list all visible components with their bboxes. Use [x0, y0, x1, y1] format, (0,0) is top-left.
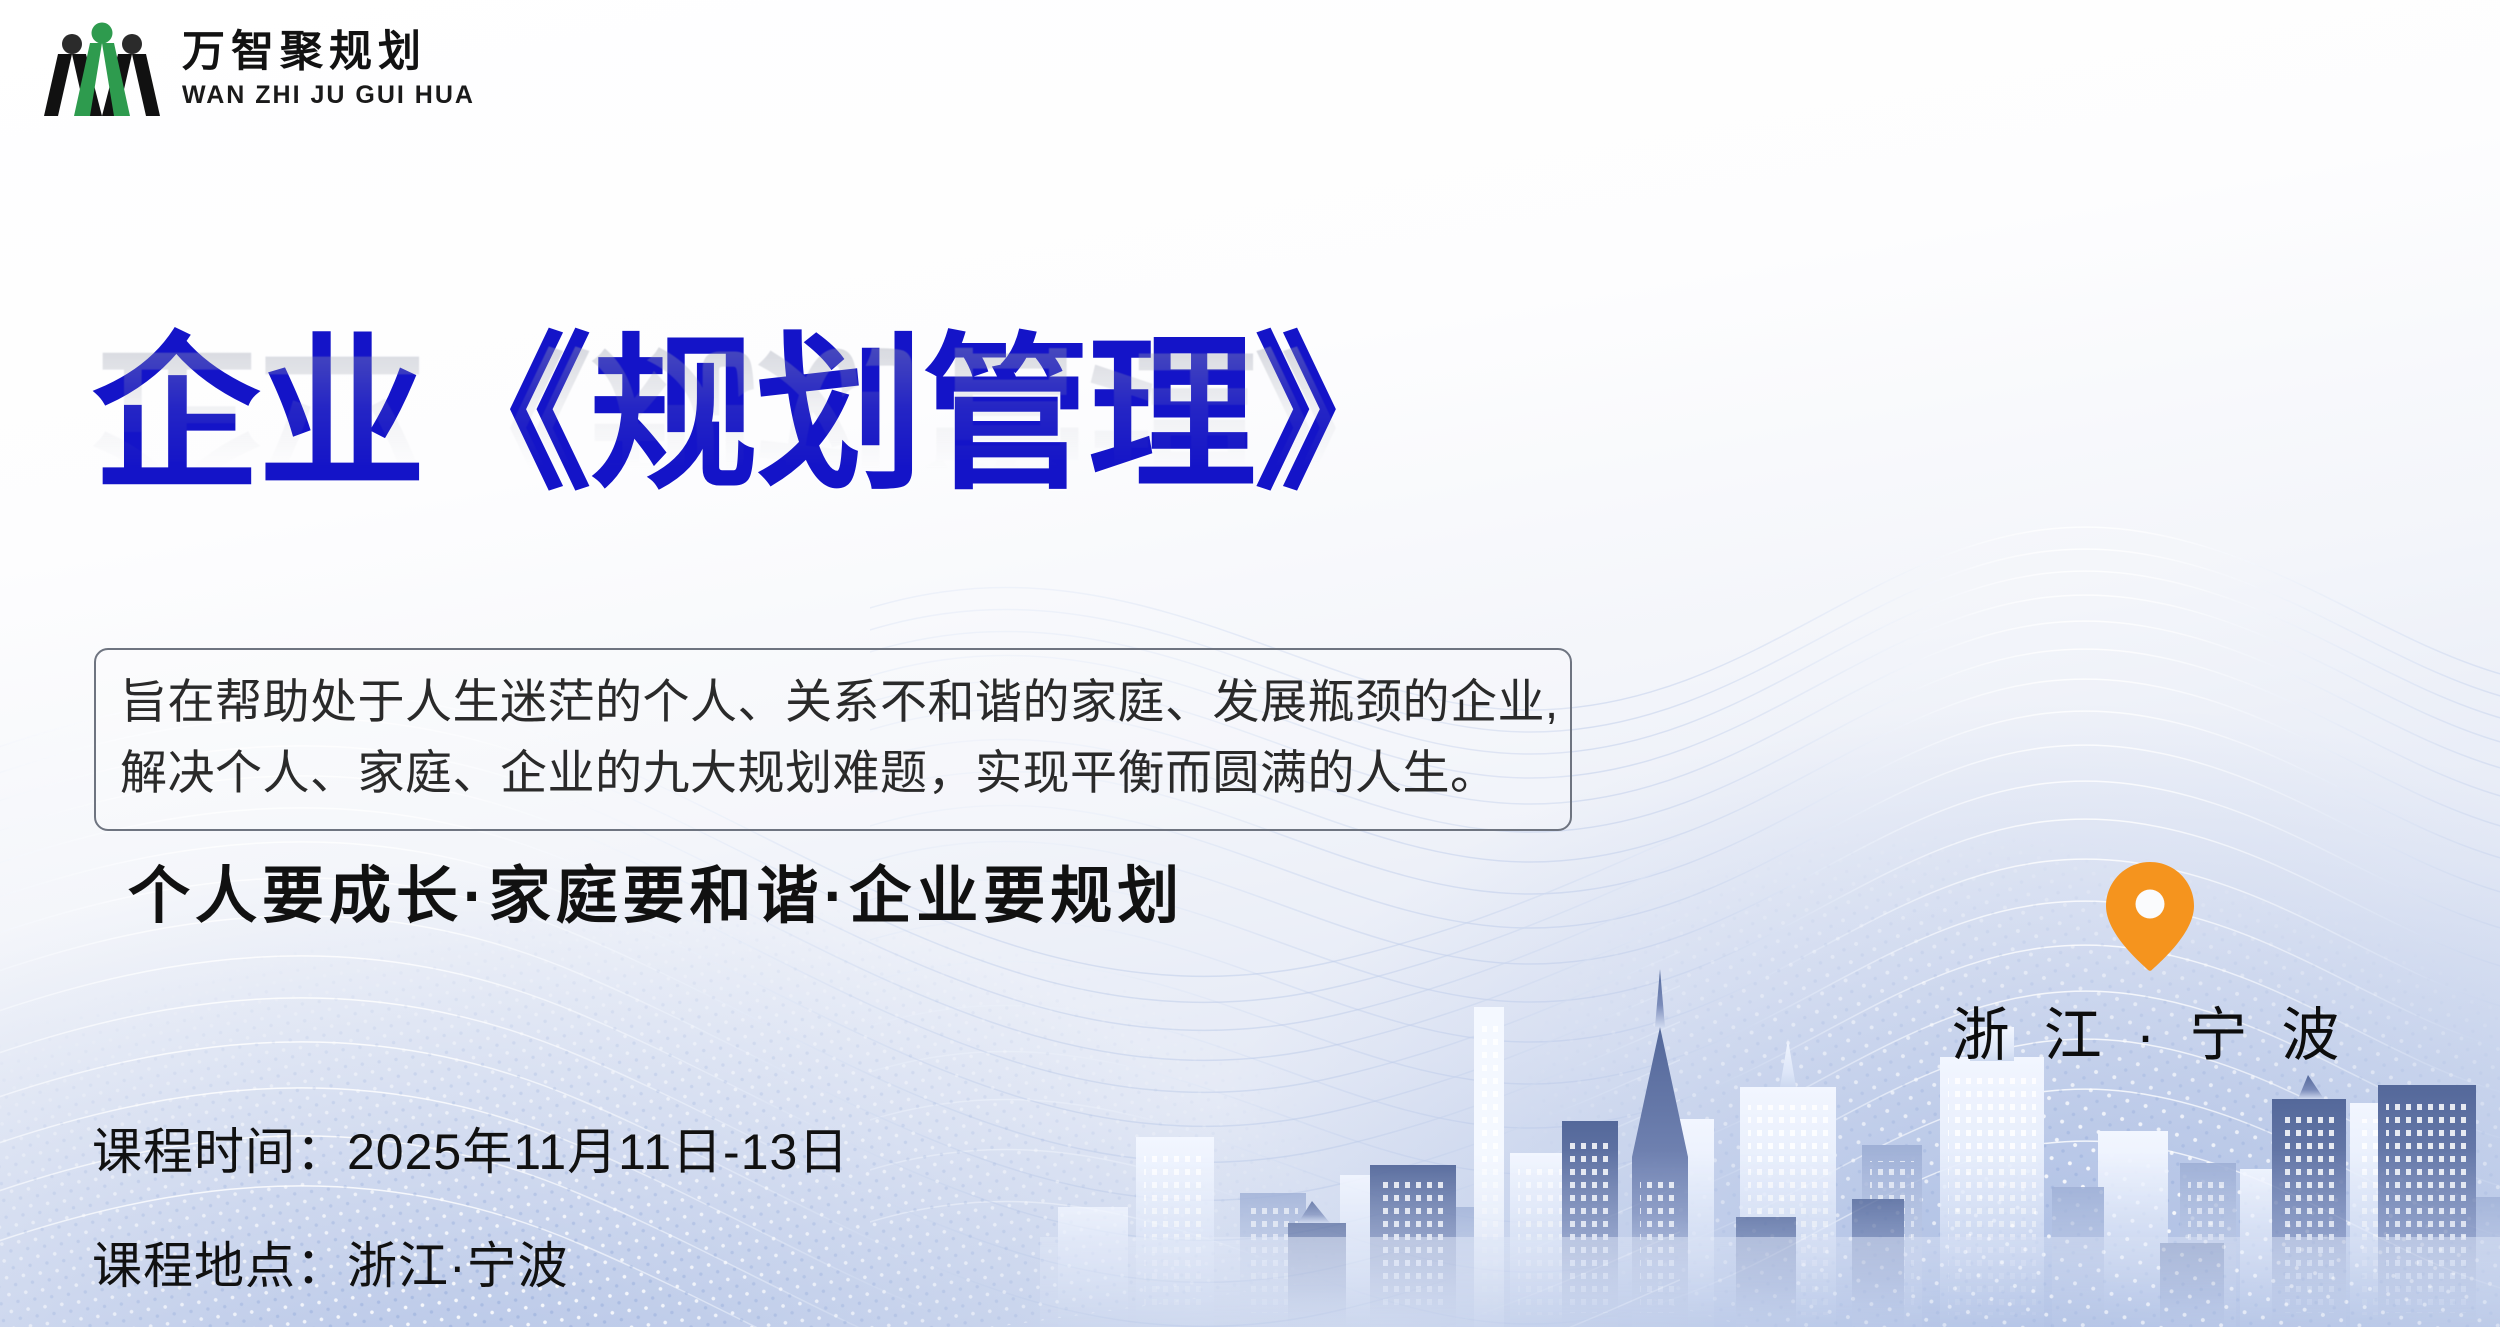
course-date: 课程时间：2025年11月11日-13日 [92, 1112, 849, 1184]
brand-logo-text: 万智聚规划 WAN ZHI JU GUI HUA [182, 26, 475, 110]
description-line-1: 旨在帮助处于人生迷茫的个人、关系不和谐的家庭、发展瓶颈的企业, [120, 666, 1544, 737]
description-line-2: 解决个人、家庭、企业的九大规划难题，实现平衡而圆满的人生。 [120, 737, 1544, 808]
course-info: 课程时间：2025年11月11日-13日 课程地点：浙江·宁波 [92, 1112, 849, 1298]
brand-logo[interactable]: 万智聚规划 WAN ZHI JU GUI HUA [44, 18, 475, 118]
brand-name-cn: 万智聚规划 [182, 30, 475, 75]
tagline: 个人要成长·家庭要和谐·企业要规划 [128, 845, 1184, 935]
headline-block: 企业《规划管理》 企业《规划管理》 [92, 330, 1652, 679]
page-title-reflection: 企业《规划管理》 [92, 336, 1652, 507]
location-badge: 浙 江 · 宁 波 [1955, 860, 2345, 1072]
course-place: 课程地点：浙江·宁波 [92, 1226, 849, 1298]
brand-name-pinyin: WAN ZHI JU GUI HUA [182, 81, 475, 110]
three-people-logo-icon [44, 18, 160, 118]
poster-canvas: 万智聚规划 WAN ZHI JU GUI HUA 企业《规划管理》 企业《规划管… [0, 0, 2500, 1327]
location-name: 浙 江 · 宁 波 [1952, 988, 2349, 1072]
description-box: 旨在帮助处于人生迷茫的个人、关系不和谐的家庭、发展瓶颈的企业, 解决个人、家庭、… [94, 648, 1572, 831]
map-pin-icon [2104, 860, 2196, 972]
